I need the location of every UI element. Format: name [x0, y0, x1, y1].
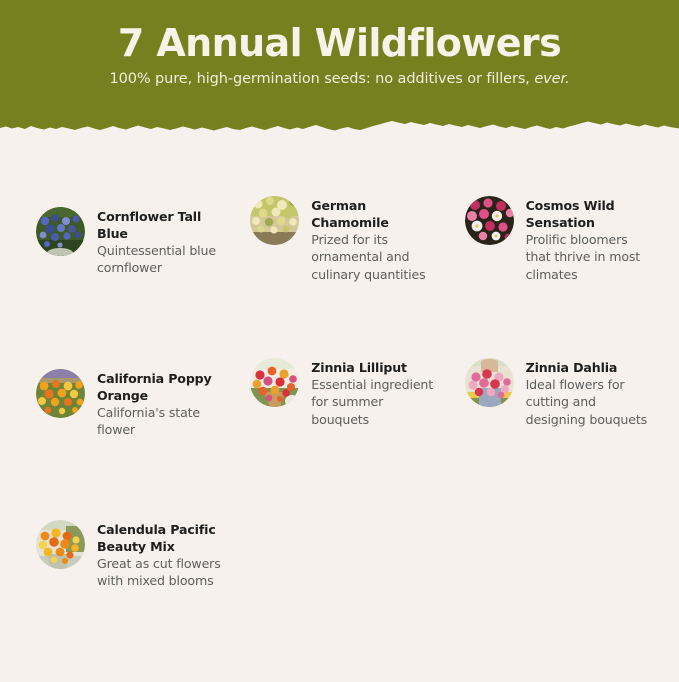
item-text: Zinnia Lilliput Essential ingredient for… — [311, 358, 436, 428]
item-name: Zinnia Dahlia — [526, 359, 651, 376]
list-item[interactable]: Calendula Pacific Beauty Mix Great as cu… — [18, 520, 232, 616]
item-text: Cosmos Wild Sensation Prolific bloomers … — [526, 196, 651, 283]
item-name: Zinnia Lilliput — [311, 359, 436, 376]
list-item[interactable]: California Poppy Orange California's sta… — [18, 358, 232, 454]
item-description: Quintessential blue cornflower — [97, 242, 222, 277]
item-name: Calendula Pacific Beauty Mix — [97, 521, 222, 555]
cornflower-tall-blue-thumbnail — [36, 207, 85, 256]
list-item[interactable]: Cosmos Wild Sensation Prolific bloomers … — [447, 196, 661, 292]
item-text: Calendula Pacific Beauty Mix Great as cu… — [97, 520, 222, 590]
calendula-pacific-beauty-mix-thumbnail — [36, 520, 85, 569]
german-chamomile-thumbnail — [250, 196, 299, 245]
item-name: Cornflower Tall Blue — [97, 208, 222, 242]
page-title: 7 Annual Wildflowers — [0, 0, 679, 65]
wildflower-items-grid: Cornflower Tall Blue Quintessential blue… — [0, 134, 679, 682]
torn-paper-edge-icon — [0, 109, 679, 134]
item-text: Cornflower Tall Blue Quintessential blue… — [97, 207, 222, 277]
item-name: German Chamomile — [311, 197, 436, 231]
item-description: Prized for its ornamental and culinary q… — [311, 231, 436, 283]
page-subtitle-emphasis: ever. — [534, 71, 569, 87]
list-item[interactable]: German Chamomile Prized for its ornament… — [232, 196, 446, 292]
page-subtitle-main: 100% pure, high-germination seeds: no ad… — [109, 71, 534, 87]
page-subtitle: 100% pure, high-germination seeds: no ad… — [0, 65, 679, 87]
zinnia-dahlia-thumbnail — [465, 358, 514, 407]
item-description: Ideal flowers for cutting and designing … — [526, 376, 651, 428]
item-description: Essential ingredient for summer bouquets — [311, 376, 436, 428]
zinnia-lilliput-thumbnail — [250, 358, 299, 407]
item-description: Prolific bloomers that thrive in most cl… — [526, 231, 651, 283]
list-item[interactable]: Cornflower Tall Blue Quintessential blue… — [18, 196, 232, 292]
cosmos-wild-sensation-thumbnail — [465, 196, 514, 245]
header-text-wrap: 7 Annual Wildflowers 100% pure, high-ger… — [0, 0, 679, 87]
item-text: Zinnia Dahlia Ideal flowers for cutting … — [526, 358, 651, 428]
item-text: German Chamomile Prized for its ornament… — [311, 196, 436, 283]
header-banner: 7 Annual Wildflowers 100% pure, high-ger… — [0, 0, 679, 134]
item-description: California's state flower — [97, 404, 222, 439]
item-name: Cosmos Wild Sensation — [526, 197, 651, 231]
california-poppy-orange-thumbnail — [36, 369, 85, 418]
list-item[interactable]: Zinnia Lilliput Essential ingredient for… — [232, 358, 446, 454]
item-description: Great as cut flowers with mixed blooms — [97, 555, 222, 590]
item-text: California Poppy Orange California's sta… — [97, 369, 222, 439]
list-item[interactable]: Zinnia Dahlia Ideal flowers for cutting … — [447, 358, 661, 454]
item-name: California Poppy Orange — [97, 370, 222, 404]
